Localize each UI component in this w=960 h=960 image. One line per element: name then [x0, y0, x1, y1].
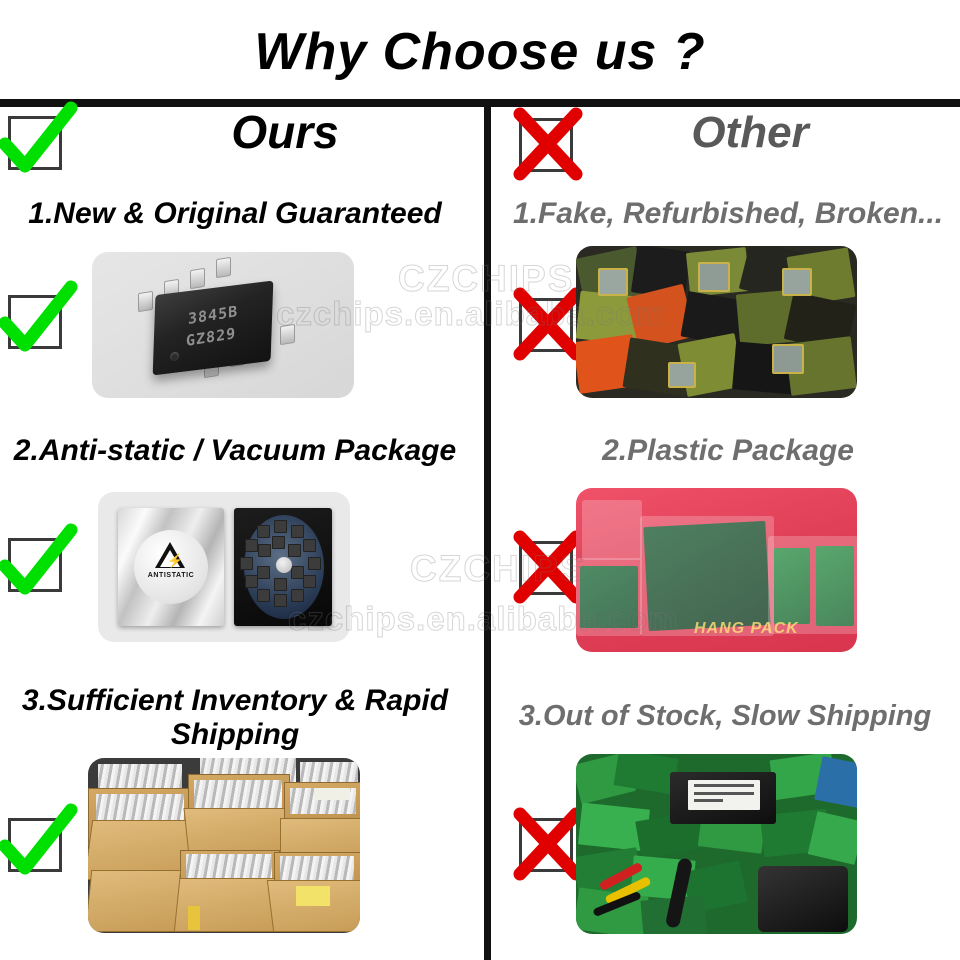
column-divider-rule	[484, 106, 491, 960]
row-1-label-ours: 1.New & Original Guaranteed	[0, 197, 470, 231]
row-3-label-ours: 3.Sufficient Inventory & Rapid Shipping	[0, 684, 470, 751]
check-mark-icon	[8, 295, 62, 349]
new-original-chip-photo: 3845B GZ829	[92, 252, 354, 398]
plastic-bag-brand-text: HANG PACK	[694, 620, 799, 638]
stocked-boxes-photo	[88, 758, 360, 933]
check-mark-icon	[8, 818, 62, 872]
page-title: Why Choose us ?	[0, 22, 960, 82]
cross-mark-icon	[519, 541, 573, 595]
check-mark-icon	[8, 538, 62, 592]
row-2-label-other: 2.Plastic Package	[496, 434, 960, 468]
scrap-chips-pile-photo	[576, 246, 857, 398]
plastic-package-photo: HANG PACK	[576, 488, 857, 652]
black-module-with-label	[670, 772, 776, 824]
row-3-label-other: 3.Out of Stock, Slow Shipping	[490, 700, 960, 733]
cross-mark-icon	[519, 118, 573, 172]
column-heading-other: Other	[570, 108, 930, 158]
component-reel-tray	[234, 508, 332, 626]
check-mark-icon	[8, 116, 62, 170]
antistatic-vacuum-package-photo: ⚡ ANTISTATIC	[98, 492, 350, 642]
esd-label: ANTISTATIC	[142, 572, 200, 579]
antistatic-foil-bag: ⚡ ANTISTATIC	[118, 508, 224, 626]
column-heading-ours: Ours	[120, 105, 450, 159]
pcb-scrap-photo	[576, 754, 857, 934]
cross-mark-icon	[519, 298, 573, 352]
cross-mark-icon	[519, 818, 573, 872]
row-2-label-ours: 2.Anti-static / Vacuum Package	[0, 434, 470, 468]
why-choose-us-infographic: Why Choose us ? Ours Other 1.New & Origi	[0, 0, 960, 960]
row-1-label-other: 1.Fake, Refurbished, Broken...	[496, 197, 960, 231]
